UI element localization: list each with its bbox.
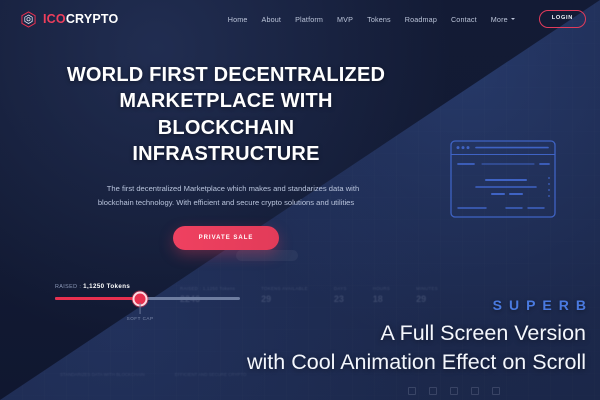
promo-line-2: with Cool Animation Effect on Scroll xyxy=(247,348,586,376)
login-button[interactable]: LOGIN xyxy=(539,10,586,28)
ghost-square-icon xyxy=(450,387,458,395)
nav-item-tokens[interactable]: Tokens xyxy=(367,15,391,24)
soft-cap-tick xyxy=(140,303,141,314)
ghost-footer-line: STANDARIZES DATA WITH BLOCKCHAIN xyxy=(60,372,145,377)
private-sale-button[interactable]: PRIVATE SALE xyxy=(173,226,280,250)
hero-title: WORLD FIRST DECENTRALIZED MARKETPLACE WI… xyxy=(66,62,386,168)
brand-logo[interactable]: ICOCRYPTO xyxy=(20,11,118,28)
nav-item-home[interactable]: Home xyxy=(228,15,248,24)
raised-label-prefix: RAISED : xyxy=(55,284,81,290)
ghost-stat-label: HOURS xyxy=(373,286,390,291)
nav-item-about[interactable]: About xyxy=(262,15,282,24)
main-navigation: Home About Platform MVP Tokens Roadmap C… xyxy=(228,10,586,28)
promo-overlay: SUPERB A Full Screen Version with Cool A… xyxy=(247,297,586,376)
progress-fill xyxy=(55,297,140,300)
ghost-stat-label: MINUTES xyxy=(416,286,438,291)
chevron-down-icon xyxy=(511,18,515,20)
nav-item-roadmap[interactable]: Roadmap xyxy=(405,15,437,24)
raise-progress-block: RAISED : 1,1250 Tokens SOFT CAP xyxy=(55,283,240,300)
ghost-stat-label: DAYS xyxy=(334,286,347,291)
nav-item-platform[interactable]: Platform xyxy=(295,15,323,24)
brand-ico-text: ICO xyxy=(43,12,66,26)
ghost-placeholder-pill xyxy=(236,250,298,261)
ghost-footer-text: STANDARIZES DATA WITH BLOCKCHAIN EFFICIE… xyxy=(60,372,246,377)
nav-item-contact[interactable]: Contact xyxy=(451,15,477,24)
nav-item-more[interactable]: More xyxy=(491,15,515,24)
nav-item-mvp[interactable]: MVP xyxy=(337,15,353,24)
site-header: ICOCRYPTO Home About Platform MVP Tokens… xyxy=(0,0,600,38)
ghost-toolbar-icons xyxy=(408,387,500,395)
hero-subtitle: The first decentralized Marketplace whic… xyxy=(85,182,367,210)
raised-label-value: 1,1250 Tokens xyxy=(83,283,130,290)
hero-preview-screenshot: RAISED : 1,1250 Tokens 2246 TOKENS AVAIL… xyxy=(0,0,600,400)
hero-section: WORLD FIRST DECENTRALIZED MARKETPLACE WI… xyxy=(0,62,452,250)
soft-cap-marker: SOFT CAP xyxy=(127,303,154,321)
ghost-square-icon xyxy=(429,387,437,395)
soft-cap-label: SOFT CAP xyxy=(127,316,154,321)
browser-window-illustration xyxy=(450,140,565,225)
promo-kicker: SUPERB xyxy=(247,297,593,313)
ghost-stat-label: TOKENS AVAILABLE xyxy=(261,286,308,291)
hexagon-badge-icon xyxy=(20,11,37,28)
ghost-square-icon xyxy=(471,387,479,395)
nav-item-more-label: More xyxy=(491,15,508,24)
progress-slider[interactable]: SOFT CAP xyxy=(55,297,240,300)
ghost-footer-line: EFFICIENT AND SECURE CRYPTO xyxy=(175,372,247,377)
brand-name-text: CRYPTO xyxy=(66,12,119,26)
promo-line-1: A Full Screen Version xyxy=(247,319,586,347)
ghost-square-icon xyxy=(408,387,416,395)
ghost-square-icon xyxy=(492,387,500,395)
raised-label: RAISED : 1,1250 Tokens xyxy=(55,283,240,290)
brand-wordmark: ICOCRYPTO xyxy=(43,13,118,26)
